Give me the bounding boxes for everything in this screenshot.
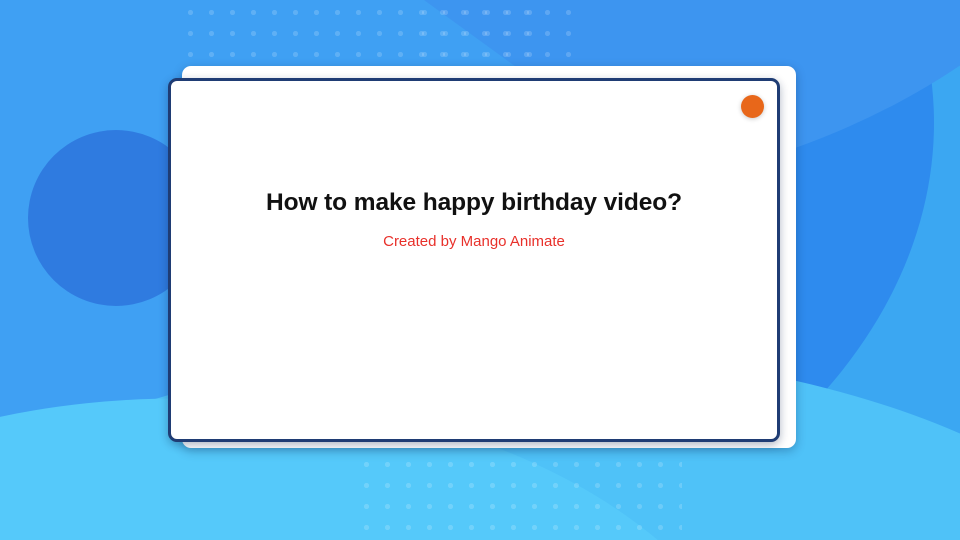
slide-title: How to make happy birthday video? <box>171 189 777 217</box>
slide-subtitle: Created by Mango Animate <box>171 233 777 250</box>
accent-dot-icon <box>741 95 764 118</box>
slide-text-block: How to make happy birthday video? Create… <box>171 189 777 250</box>
dot-pattern-bottom <box>352 448 682 540</box>
slide-card[interactable]: How to make happy birthday video? Create… <box>168 78 780 442</box>
presentation-slide-canvas: How to make happy birthday video? Create… <box>0 0 960 540</box>
